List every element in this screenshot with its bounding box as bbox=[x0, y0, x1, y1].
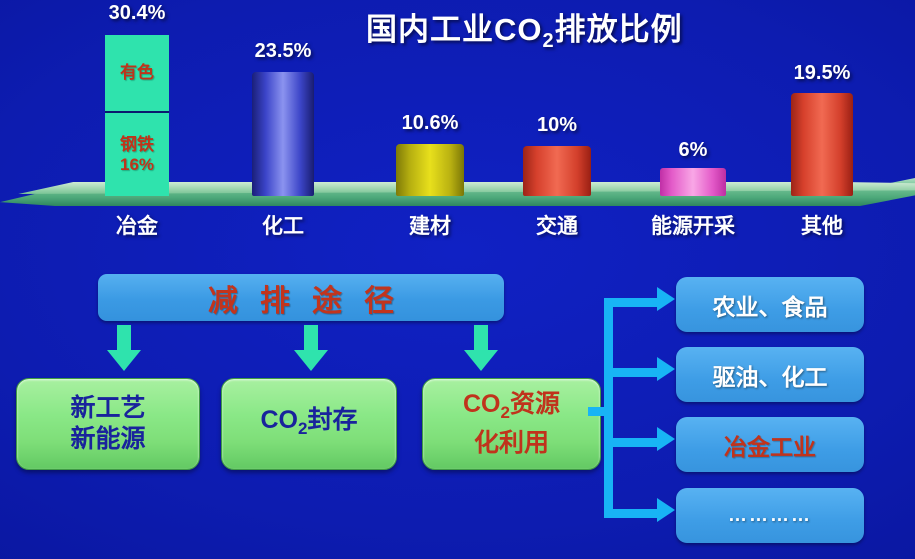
bar-segment-label-gangtie: 钢铁 16% bbox=[105, 135, 169, 175]
bar-value-yejin: 30.4% bbox=[67, 2, 207, 25]
segment-value: 16% bbox=[120, 155, 154, 174]
pathway-label: CO2封存 bbox=[261, 405, 358, 444]
bar-chart: 国内工业CO2排放比例 有色 钢铁 16% 30.4% bbox=[0, 0, 915, 255]
segment-text: 钢铁 bbox=[120, 135, 154, 154]
bar-jiancai[interactable] bbox=[396, 144, 464, 196]
value-text: 23.5% bbox=[255, 40, 312, 62]
pathway-line-1: 新工艺 bbox=[70, 394, 145, 422]
arrow-down-icon-3 bbox=[464, 325, 498, 371]
pathway-line-2: 化利用 bbox=[474, 429, 549, 457]
value-text: 19.5% bbox=[794, 62, 851, 84]
category-text: 建材 bbox=[409, 215, 451, 238]
application-box-eor-chemicals[interactable]: 驱油、化工 bbox=[676, 347, 864, 402]
pathway-prefix: CO bbox=[261, 406, 299, 434]
pathway-suffix: 封存 bbox=[307, 406, 357, 434]
bar-body-yejin: 有色 钢铁 16% bbox=[105, 35, 169, 196]
category-label-huagong: 化工 bbox=[203, 210, 363, 240]
application-label: 驱油、化工 bbox=[713, 358, 828, 392]
application-box-more[interactable]: ………… bbox=[676, 488, 864, 543]
application-box-agriculture-food[interactable]: 农业、食品 bbox=[676, 277, 864, 332]
connector-branch-2 bbox=[611, 368, 657, 377]
category-text: 其他 bbox=[801, 215, 843, 238]
arrow-right-icon-2 bbox=[657, 357, 675, 381]
bar-nengyuankaicai[interactable] bbox=[660, 168, 726, 196]
application-box-metallurgy-industry[interactable]: 冶金工业 bbox=[676, 417, 864, 472]
bar-qita[interactable] bbox=[791, 93, 853, 196]
connector-stem bbox=[588, 407, 610, 416]
category-text: 化工 bbox=[262, 215, 304, 238]
category-text: 交通 bbox=[536, 215, 578, 238]
connector-branch-4 bbox=[611, 509, 657, 518]
bar-body-jiancai bbox=[396, 144, 464, 196]
banner-label: 减排途径 bbox=[186, 276, 416, 320]
arrow-right-icon-3 bbox=[657, 427, 675, 451]
bar-jiaotong[interactable] bbox=[523, 146, 591, 196]
bar-value-jiaotong: 10% bbox=[487, 114, 627, 137]
bar-body-nengyuankaicai bbox=[660, 168, 726, 196]
category-text: 能源开采 bbox=[651, 215, 735, 238]
bar-value-huagong: 23.5% bbox=[213, 40, 353, 63]
pathway-line-2: 新能源 bbox=[70, 425, 145, 453]
value-text: 30.4% bbox=[109, 2, 166, 24]
value-text: 10% bbox=[537, 114, 577, 136]
arrow-right-icon-4 bbox=[657, 498, 675, 522]
pathway-suffix: 资源 bbox=[510, 390, 560, 418]
arrow-down-icon-2 bbox=[294, 325, 328, 371]
application-label: 冶金工业 bbox=[724, 428, 816, 462]
bar-value-jiancai: 10.6% bbox=[360, 112, 500, 135]
bar-body-qita bbox=[791, 93, 853, 196]
bar-body-huagong bbox=[252, 72, 314, 196]
category-text: 冶金 bbox=[116, 215, 158, 238]
bar-segment-label-youse: 有色 bbox=[105, 63, 169, 83]
application-label: ………… bbox=[728, 505, 812, 527]
bar-value-nengyuankaicai: 6% bbox=[623, 139, 763, 162]
reduction-pathway-banner[interactable]: 减排途径 bbox=[98, 274, 504, 321]
pathway-label: 新工艺 新能源 bbox=[70, 393, 145, 455]
branch-connector bbox=[604, 290, 682, 525]
pathway-subscript: 2 bbox=[501, 403, 510, 422]
category-label-qita: 其他 bbox=[742, 210, 902, 240]
arrow-right-icon-1 bbox=[657, 287, 675, 311]
segment-text: 有色 bbox=[120, 63, 154, 82]
value-text: 10.6% bbox=[402, 112, 459, 134]
bar-value-qita: 19.5% bbox=[752, 62, 892, 85]
pathway-box-new-process[interactable]: 新工艺 新能源 bbox=[16, 378, 200, 470]
pathway-box-co2-utilization[interactable]: CO2资源 化利用 bbox=[422, 378, 601, 470]
connector-branch-1 bbox=[611, 298, 657, 307]
pathway-box-co2-storage[interactable]: CO2封存 bbox=[221, 378, 397, 470]
value-text: 6% bbox=[679, 139, 708, 161]
connector-branch-3 bbox=[611, 438, 657, 447]
slide-canvas: 国内工业CO2排放比例 有色 钢铁 16% 30.4% bbox=[0, 0, 915, 559]
pathway-prefix: CO bbox=[463, 390, 501, 418]
bar-huagong[interactable] bbox=[252, 72, 314, 196]
application-label: 农业、食品 bbox=[713, 288, 828, 322]
bar-yejin[interactable]: 有色 钢铁 16% bbox=[105, 35, 169, 196]
bar-body-jiaotong bbox=[523, 146, 591, 196]
category-label-yejin: 冶金 bbox=[57, 210, 217, 240]
pathway-label: CO2资源 化利用 bbox=[463, 389, 560, 459]
bar-segment-divider bbox=[105, 111, 169, 113]
bar-series: 有色 钢铁 16% 30.4% 23.5% bbox=[0, 0, 915, 196]
arrow-down-icon-1 bbox=[107, 325, 141, 371]
